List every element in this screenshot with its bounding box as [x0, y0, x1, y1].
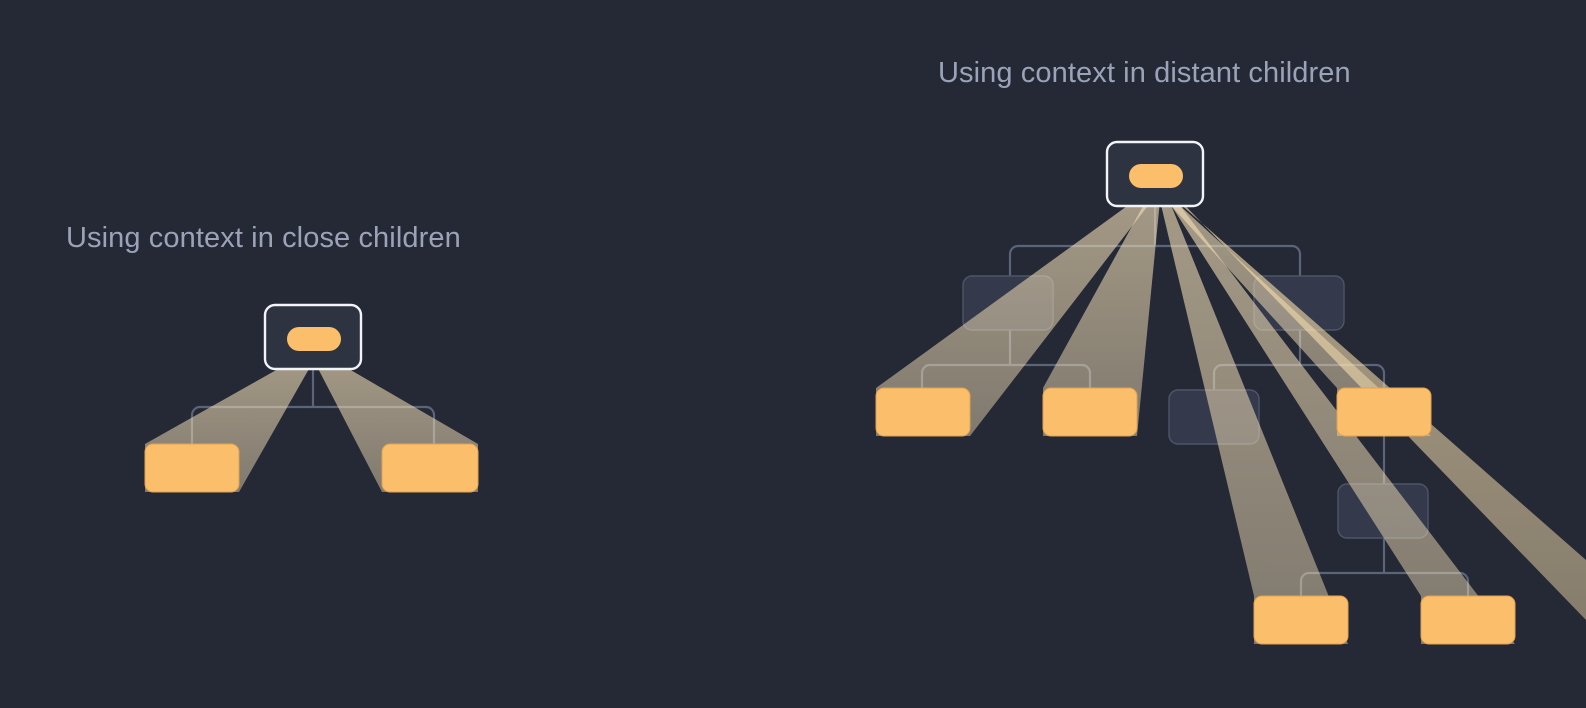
consumer-leaf-4[interactable]: [1254, 596, 1348, 644]
consumer-leaf-5[interactable]: [1421, 596, 1515, 644]
diagram-svg: [0, 0, 1586, 708]
provider-group-close[interactable]: [265, 305, 361, 369]
consumer-leaf-3[interactable]: [1337, 388, 1431, 436]
provider-group-distant[interactable]: [1107, 142, 1203, 206]
consumer-leaf-right[interactable]: [382, 444, 478, 492]
panel-title-close-children: Using context in close children: [66, 222, 461, 255]
panel-title-distant-children: Using context in distant children: [938, 57, 1351, 90]
consumer-leaf-2[interactable]: [1043, 388, 1137, 436]
diagram-canvas: Using context in close children Using co…: [0, 0, 1586, 708]
consumer-leaf-left[interactable]: [145, 444, 239, 492]
context-provider-pill[interactable]: [1129, 164, 1183, 188]
context-provider-pill[interactable]: [287, 327, 341, 351]
consumer-leaf-1[interactable]: [876, 388, 970, 436]
